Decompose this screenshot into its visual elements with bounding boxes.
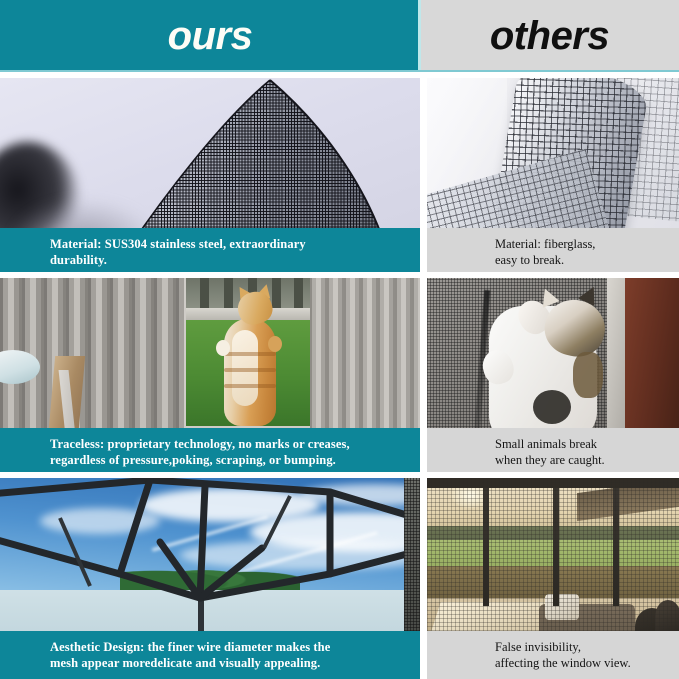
ours-traceless-caption: Traceless: proprietary technology, no ma… — [0, 428, 420, 472]
comparison-row-aesthetic: Aesthetic Design: the finer wire diamete… — [0, 478, 679, 679]
caption-line: Aesthetic Design: the finer wire diamete… — [50, 639, 406, 655]
caption-line: Traceless: proprietary technology, no ma… — [50, 436, 406, 452]
cat-stripe — [224, 384, 276, 388]
column-gutter — [420, 478, 427, 679]
others-traceless-caption: Small animals break when they are caught… — [427, 428, 679, 472]
caption-line: durability. — [50, 252, 406, 268]
caption-line: mesh appear moredelicate and visually ap… — [50, 655, 406, 671]
cat-paw — [216, 340, 230, 356]
pillar — [272, 278, 281, 312]
ours-traceless-cell: Traceless: proprietary technology, no ma… — [0, 278, 420, 472]
header-ours-band: ours — [0, 0, 420, 72]
cat-paw — [268, 336, 282, 352]
caption-line: easy to break. — [495, 252, 669, 268]
lounge-chair — [655, 600, 679, 634]
others-aesthetic-caption: False invisibility, affecting the window… — [427, 631, 679, 679]
caption-line: False invisibility, — [495, 639, 669, 655]
column-gutter — [420, 78, 427, 272]
comparison-header: ours others — [0, 0, 679, 72]
others-material-cell: Material: fiberglass, easy to break. — [427, 78, 679, 272]
header-others-band: others — [420, 0, 679, 72]
window-mullion — [553, 478, 559, 606]
pillar — [224, 278, 233, 312]
header-ours-label: ours — [0, 0, 420, 72]
pillar — [200, 278, 209, 312]
ours-material-caption: Material: SUS304 stainless steel, extrao… — [0, 228, 420, 272]
ours-aesthetic-caption: Aesthetic Design: the finer wire diamete… — [0, 631, 420, 679]
header-divider — [418, 0, 421, 72]
window-header-beam — [427, 478, 679, 488]
caption-line: Material: fiberglass, — [495, 236, 669, 252]
caption-line: regardless of pressure,poking, scraping,… — [50, 452, 406, 468]
column-gutter — [420, 278, 427, 472]
window-opening — [186, 278, 310, 426]
cat-stripe — [224, 368, 276, 372]
calico-cat-patch — [573, 352, 603, 398]
caption-line: Small animals break — [495, 436, 669, 452]
others-aesthetic-cell: False invisibility, affecting the window… — [427, 478, 679, 679]
others-traceless-cell: Small animals break when they are caught… — [427, 278, 679, 472]
comparison-row-material: Material: SUS304 stainless steel, extrao… — [0, 78, 679, 272]
caption-line: Material: SUS304 stainless steel, extrao… — [50, 236, 406, 252]
ours-aesthetic-cell: Aesthetic Design: the finer wire diamete… — [0, 478, 420, 679]
caption-line: when they are caught. — [495, 452, 669, 468]
comparison-row-traceless: Traceless: proprietary technology, no ma… — [0, 278, 679, 472]
others-material-caption: Material: fiberglass, easy to break. — [427, 228, 679, 272]
comparison-infographic: ours others Material: SUS304 st — [0, 0, 679, 679]
header-others-label: others — [420, 0, 679, 72]
header-underline — [0, 70, 679, 72]
window-mullion — [483, 478, 489, 606]
pillar — [294, 278, 303, 312]
cat-stripe — [224, 352, 276, 356]
calico-cat-patch — [533, 390, 571, 424]
window-mullion — [613, 478, 619, 606]
ours-material-cell: Material: SUS304 stainless steel, extrao… — [0, 78, 420, 272]
caption-line: affecting the window view. — [495, 655, 669, 671]
cushion — [545, 594, 579, 620]
